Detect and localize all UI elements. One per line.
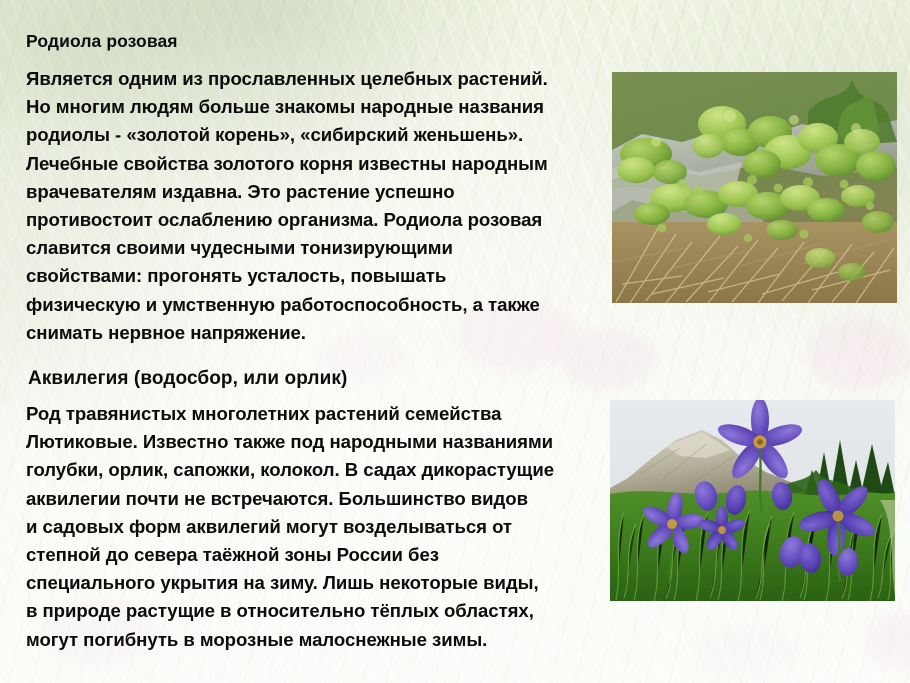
rhodiola-rosea-photo [612,72,897,303]
heading-aquilegia: Аквилегия (водосбор, или орлик) [28,368,347,390]
slide: Родиола розовая Является одним из просла… [0,0,910,683]
aquilegia-photo [610,400,895,601]
body-text-rhodiola: Является одним из прославленных целебных… [26,65,616,347]
body-text-aquilegia: Род травянистых многолетних растений сем… [26,400,622,654]
heading-rhodiola: Родиола розовая [26,31,178,52]
